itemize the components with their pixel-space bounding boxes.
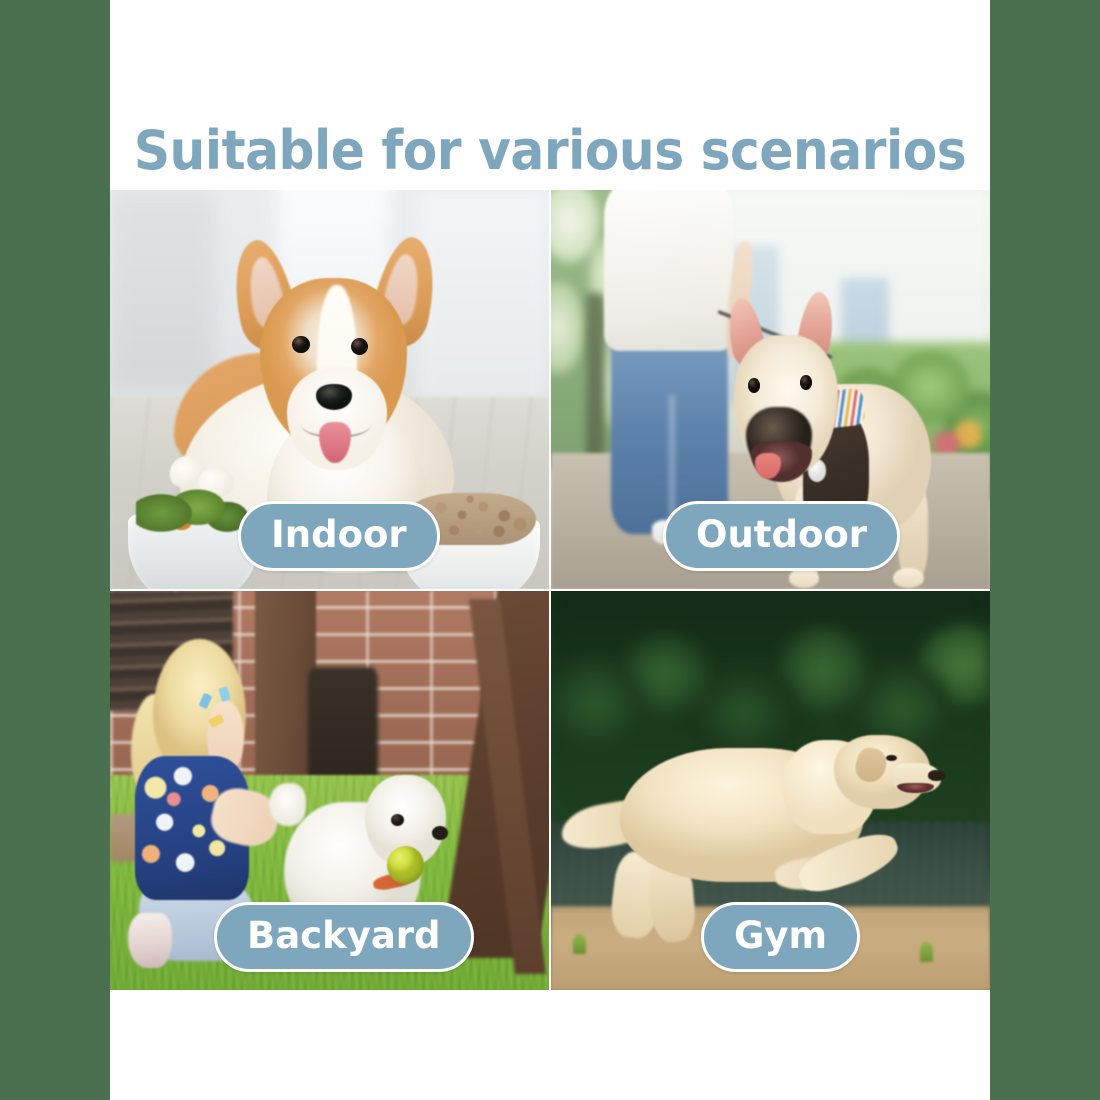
retriever-nose	[928, 770, 945, 781]
retriever-eye	[886, 755, 897, 761]
curly-dog-nose	[432, 826, 449, 840]
scenario-card-outdoor[interactable]: Outdoor	[551, 190, 990, 589]
scenario-card-backyard[interactable]: Backyard	[110, 591, 549, 990]
right-green-frame-bar	[990, 0, 1100, 1100]
scenario-label-outdoor[interactable]: Outdoor	[663, 501, 900, 571]
frenchie-paw-right	[893, 568, 924, 588]
frenchie-eye-left	[748, 378, 760, 392]
scenario-label-indoor[interactable]: Indoor	[238, 501, 440, 571]
corgi-eye-left	[292, 336, 309, 353]
sand-grass-tuft-right	[920, 942, 933, 962]
frenchie-eye-right	[800, 375, 812, 389]
scenario-card-gym[interactable]: Gym	[551, 591, 990, 990]
scenario-grid: Indoor	[110, 190, 990, 990]
child-shoe	[128, 913, 172, 968]
scenario-card-indoor[interactable]: Indoor	[110, 190, 549, 589]
scenario-label-backyard[interactable]: Backyard	[214, 902, 474, 972]
page-title: Suitable for various scenarios	[141, 112, 959, 190]
scenario-banner: Suitable for various scenarios	[0, 0, 1100, 1100]
curly-dog-tail	[269, 783, 306, 827]
left-green-frame-bar	[0, 0, 110, 1100]
corgi-eye-right	[351, 338, 368, 355]
vegetables	[136, 489, 250, 537]
person-tshirt	[604, 190, 734, 351]
scenario-label-gym[interactable]: Gym	[701, 902, 860, 972]
